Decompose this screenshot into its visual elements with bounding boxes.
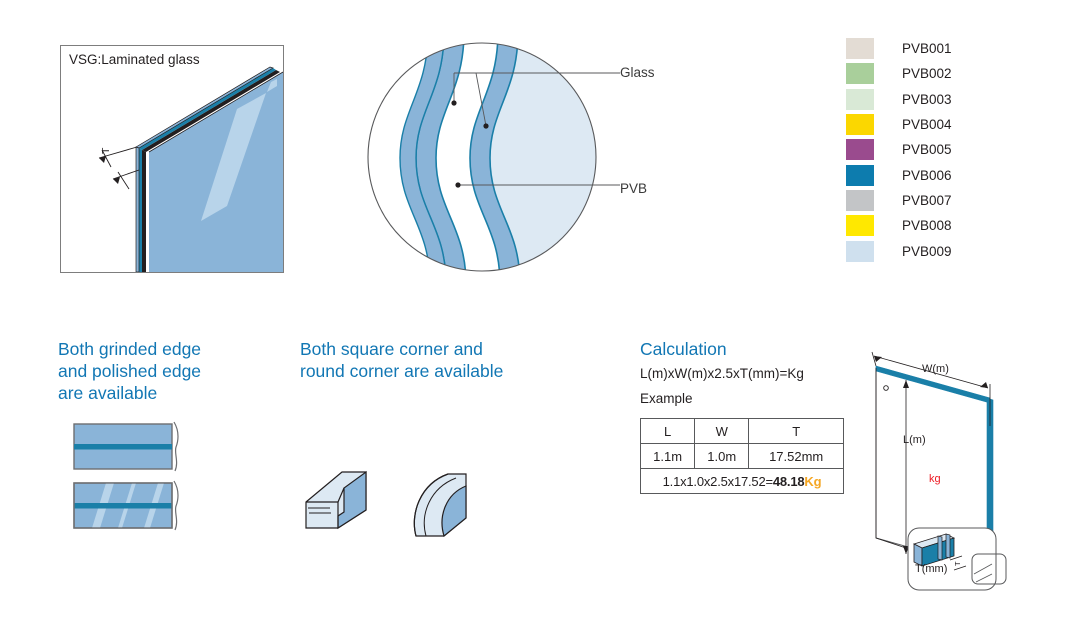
vsg-panel-drawing: T	[61, 46, 283, 272]
panel-width-label: W(m)	[922, 363, 949, 375]
legend-item[interactable]: PVB004	[846, 112, 1016, 137]
polished-edge-sample	[74, 481, 178, 530]
color-swatch	[846, 114, 874, 135]
legend-label: PVB002	[902, 66, 952, 81]
color-swatch	[846, 215, 874, 236]
edge-finish-illustration	[70, 420, 200, 535]
legend-item[interactable]: PVB003	[846, 87, 1016, 112]
edge-samples-drawing	[70, 420, 200, 535]
legend-item[interactable]: PVB005	[846, 137, 1016, 162]
vsg-panel-title: VSG:Laminated glass	[69, 52, 200, 67]
pvb-callout-label: PVB	[620, 181, 647, 196]
thickness-reference-box	[972, 554, 1006, 584]
svg-text:T: T	[953, 561, 962, 566]
corner-feature-heading: Both square corner and round corner are …	[300, 338, 550, 382]
panel-diagram-drawing: T	[862, 338, 1062, 596]
glass-leader-dot-outer	[451, 100, 456, 105]
square-corner-sample	[306, 472, 366, 528]
pvb-leader-dot	[455, 182, 460, 187]
legend-label: PVB004	[902, 117, 952, 132]
corner-samples-drawing	[298, 458, 503, 543]
color-swatch	[846, 63, 874, 84]
legend-item[interactable]: PVB009	[846, 238, 1016, 263]
legend-label: PVB007	[902, 193, 952, 208]
grinded-edge-sample	[74, 422, 178, 471]
outer-glass-skin-side	[136, 147, 139, 272]
color-swatch	[846, 38, 874, 59]
legend-item[interactable]: PVB006	[846, 162, 1016, 187]
color-swatch	[846, 139, 874, 160]
legend-label: PVB003	[902, 92, 952, 107]
color-swatch	[846, 165, 874, 186]
color-swatch	[846, 89, 874, 110]
table-header-width: W	[695, 419, 749, 444]
table-value-width: 1.0m	[695, 444, 749, 469]
corner-style-illustration	[298, 458, 503, 543]
legend-item[interactable]: PVB001	[846, 36, 1016, 61]
legend-item[interactable]: PVB002	[846, 61, 1016, 86]
panel-dimension-diagram: T	[862, 338, 1062, 596]
result-expression: 1.1x1.0x2.5x17.52=	[663, 474, 773, 489]
legend-label: PVB001	[902, 41, 952, 56]
table-row-values: 1.1m 1.0m 17.52mm	[641, 444, 844, 469]
thickness-marker-label: T	[100, 147, 112, 154]
calculation-result-cell: 1.1x1.0x2.5x17.52=48.18Kg	[641, 469, 844, 494]
panel-thickness-label: T(mm)	[915, 563, 947, 575]
table-value-length: 1.1m	[641, 444, 695, 469]
legend-label: PVB006	[902, 168, 952, 183]
table-value-thickness: 17.52mm	[749, 444, 844, 469]
legend-label: PVB005	[902, 142, 952, 157]
result-value: 48.18	[773, 474, 805, 489]
round-corner-sample	[414, 474, 466, 536]
result-unit: Kg	[804, 474, 821, 489]
legend-label: PVB008	[902, 218, 952, 233]
calculation-example-label: Example	[640, 391, 693, 406]
legend-item[interactable]: PVB008	[846, 213, 1016, 238]
pvb-layer-side	[139, 148, 142, 272]
laminate-detail-circle	[358, 30, 628, 285]
table-row-headers: L W T	[641, 419, 844, 444]
detail-circle-drawing	[358, 30, 628, 285]
glass-leader-dot-inner	[483, 123, 488, 128]
color-swatch	[846, 190, 874, 211]
calculation-heading: Calculation	[640, 338, 727, 360]
vsg-laminated-glass-panel: T VSG:Laminated glass	[60, 45, 284, 273]
calculation-table: L W T 1.1m 1.0m 17.52mm 1.1x1.0x2.5x17.5…	[640, 418, 844, 494]
legend-label: PVB009	[902, 244, 952, 259]
table-row-result: 1.1x1.0x2.5x17.52=48.18Kg	[641, 469, 844, 494]
panel-length-label: L(m)	[903, 434, 926, 446]
pvb-color-legend: PVB001 PVB002 PVB003 PVB004 PVB005 PVB00…	[846, 36, 1016, 264]
calculation-formula: L(m)xW(m)x2.5xT(mm)=Kg	[640, 366, 804, 381]
panel-weight-label: kg	[929, 473, 941, 485]
table-header-thickness: T	[749, 419, 844, 444]
color-swatch	[846, 241, 874, 262]
legend-item[interactable]: PVB007	[846, 188, 1016, 213]
edge-feature-heading: Both grinded edge and polished edge are …	[58, 338, 288, 404]
glass-callout-label: Glass	[620, 65, 655, 80]
table-header-length: L	[641, 419, 695, 444]
laminate-core-side	[142, 150, 146, 272]
